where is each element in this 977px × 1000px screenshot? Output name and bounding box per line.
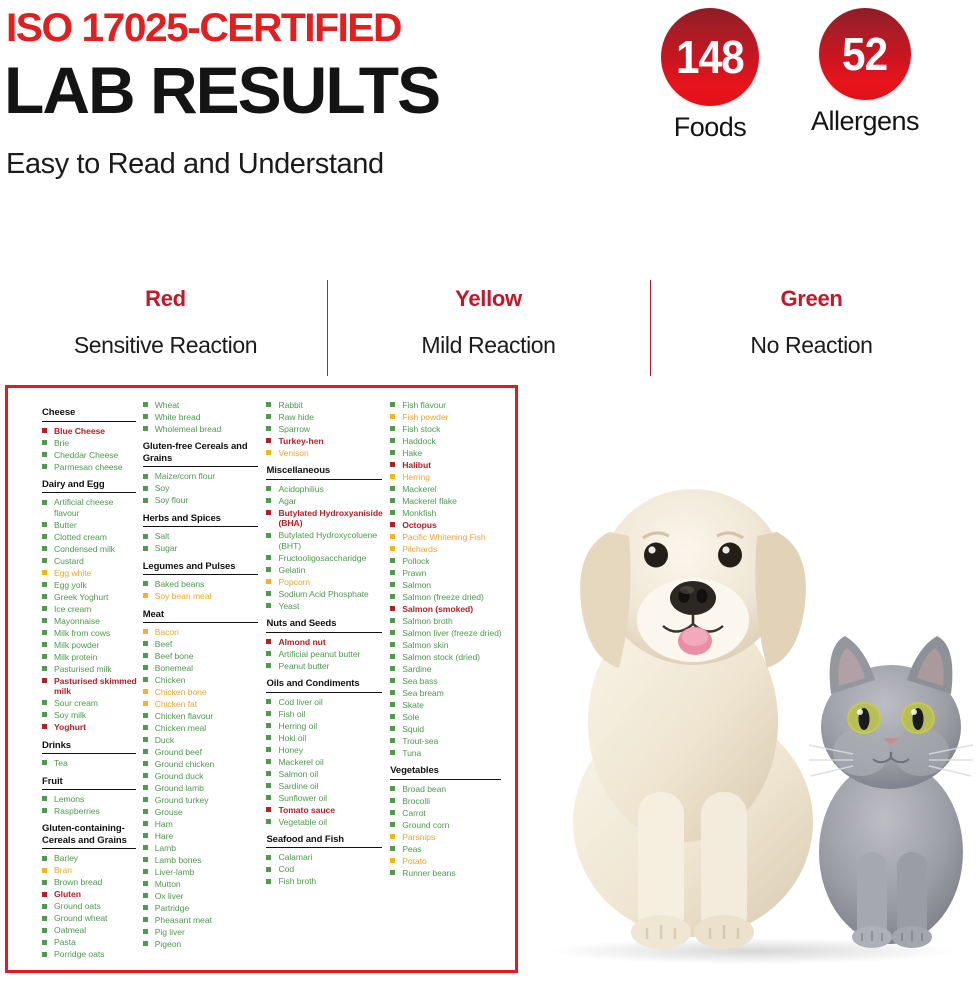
food-item-list: Maize/corn flourSoySoy flour [143,471,265,505]
food-item-label: Peas [402,844,421,854]
food-item-label: Mayonnaise [54,616,100,626]
status-square-green-icon [390,750,395,755]
legend-desc-green: No Reaction [650,332,973,359]
status-square-green-icon [143,869,148,874]
food-item-label: Ground oats [54,901,101,911]
status-square-red-icon [390,462,395,467]
food-item: Pacific Whitening Fish [390,532,507,542]
food-item: Pollock [390,556,507,566]
food-item-label: Soy [155,483,170,493]
food-item: Prawn [390,568,507,578]
status-square-green-icon [42,904,47,909]
food-item-list: Tea [42,758,141,768]
category-rule [143,526,259,527]
status-square-red-icon [266,510,271,515]
category-heading: Miscellaneous [266,465,388,477]
food-item: Fish flavour [390,400,507,410]
status-square-green-icon [42,880,47,885]
food-item-label: Vegetable oil [278,817,327,827]
food-item-label: Pheasant meat [155,915,212,925]
status-square-green-icon [266,783,271,788]
status-square-green-icon [390,630,395,635]
iso-certification-line: ISO 17025-CERTIFIED [6,6,401,51]
food-item-label: Mutton [155,879,181,889]
food-item: Pilchards [390,544,507,554]
food-item-list: BarleyBranBrown breadGlutenGround oatsGr… [42,853,141,959]
badge-foods: 148 Foods [645,8,775,143]
food-item-label: Fish broth [278,876,316,886]
food-item: Partridge [143,903,265,913]
status-square-green-icon [42,546,47,551]
food-item: Brie [42,438,141,448]
food-item-label: Skate [402,700,424,710]
food-item: Tomato sauce [266,805,388,815]
food-item: Ground corn [390,820,507,830]
food-item-label: Broad bean [402,784,446,794]
food-item-label: Salmon stock (dried) [402,652,480,662]
legend-desc-red: Sensitive Reaction [4,332,327,359]
food-item: Peas [390,844,507,854]
status-square-green-icon [390,810,395,815]
food-item: Duck [143,735,265,745]
food-item: Liver-lamb [143,867,265,877]
food-item-label: Pasturised milk [54,664,112,674]
food-item: Agar [266,496,388,506]
legend-labels: Red Sensitive Reaction Yellow Mild React… [4,266,973,359]
legend-item-green: Green No Reaction [650,266,973,359]
food-item: Pasturised milk [42,664,141,674]
food-item-label: Fish flavour [402,400,446,410]
status-square-green-icon [42,642,47,647]
status-square-green-icon [42,534,47,539]
food-item: Sea bass [390,676,507,686]
status-square-green-icon [390,570,395,575]
food-item-label: Milk from cows [54,628,110,638]
food-item: Sunflower oil [266,793,388,803]
food-item: Brown bread [42,877,141,887]
food-item-label: Runner beans [402,868,455,878]
food-item: Peanut butter [266,661,388,671]
food-item: Almond nut [266,637,388,647]
status-square-green-icon [266,711,271,716]
status-square-green-icon [390,402,395,407]
legend-divider-1 [327,280,328,376]
status-square-green-icon [390,642,395,647]
food-item-label: Pig liver [155,927,185,937]
status-square-green-icon [42,618,47,623]
food-item-list: Fish flavourFish powderFish stockHaddock… [390,400,507,758]
food-item-label: Maize/corn flour [155,471,215,481]
food-item-label: Salmon (smoked) [402,604,473,614]
food-item-label: Ground chicken [155,759,215,769]
food-item: Salmon [390,580,507,590]
status-square-green-icon [390,498,395,503]
food-item-label: Tea [54,758,68,768]
badge-number-foods: 148 [676,34,744,80]
status-square-red-icon [266,807,271,812]
food-item-label: Gluten [54,889,81,899]
food-item-label: Bonemeal [155,663,193,673]
status-square-green-icon [143,785,148,790]
badge-circle-allergens: 52 [819,8,911,100]
food-item-label: Herring oil [278,721,317,731]
food-item-label: Porridge oats [54,949,104,959]
category-heading: Seafood and Fish [266,834,388,846]
status-square-red-icon [266,438,271,443]
food-item: Carrot [390,808,507,818]
food-item-label: Artificial cheese flavour [54,497,113,517]
status-square-yellow-icon [390,414,395,419]
status-square-green-icon [390,870,395,875]
food-item-label: Salt [155,531,170,541]
status-square-green-icon [42,940,47,945]
status-square-green-icon [143,486,148,491]
food-item: Salmon (freeze dried) [390,592,507,602]
status-square-yellow-icon [390,534,395,539]
status-square-green-icon [143,929,148,934]
food-item-list: RabbitRaw hideSparrowTurkey-henVenison [266,400,388,458]
status-square-green-icon [266,426,271,431]
food-item-label: Pigeon [155,939,181,949]
food-item: Ice cream [42,604,141,614]
badge-label-foods: Foods [645,112,775,143]
status-square-green-icon [143,857,148,862]
status-square-red-icon [266,639,271,644]
food-item: Greek Yoghurt [42,592,141,602]
food-item-label: Blue Cheese [54,426,105,436]
status-square-green-icon [390,666,395,671]
food-item-label: Oatmeal [54,925,86,935]
food-item: Ground oats [42,901,141,911]
food-item-label: Ox liver [155,891,184,901]
food-item-label: Soy milk [54,710,86,720]
status-square-green-icon [42,796,47,801]
food-item-label: Sparrow [278,424,310,434]
food-columns: CheeseBlue CheeseBrieCheddar CheeseParme… [14,400,509,966]
status-square-green-icon [143,905,148,910]
food-item: Fish broth [266,876,388,886]
food-item-label: Sodium Acid Phosphate [278,589,368,599]
food-item-label: Butter [54,520,77,530]
food-item: Beef bone [143,651,265,661]
food-item: Artificial peanut butter [266,649,388,659]
status-square-green-icon [42,928,47,933]
status-square-green-icon [143,677,148,682]
category-rule [42,848,136,849]
food-item: Brocolli [390,796,507,806]
food-item-label: Wheat [155,400,180,410]
status-square-green-icon [143,474,148,479]
food-item: Wholemeal bread [143,424,265,434]
status-square-yellow-icon [390,858,395,863]
food-item-label: Pasta [54,937,76,947]
status-square-green-icon [390,702,395,707]
food-column-3: RabbitRaw hideSparrowTurkey-henVenisonMi… [266,400,390,966]
food-item-label: Herring [402,472,430,482]
status-square-green-icon [42,464,47,469]
food-item-label: Pacific Whitening Fish [402,532,485,542]
legend-name-red: Red [4,286,327,312]
food-item: Mackerel [390,484,507,494]
food-item-label: Beef bone [155,651,194,661]
status-square-green-icon [266,603,271,608]
food-item: Egg white [42,568,141,578]
status-square-yellow-icon [390,546,395,551]
food-item-label: Brown bread [54,877,102,887]
food-item-label: Sour cream [54,698,98,708]
food-item: Chicken meal [143,723,265,733]
food-item-label: Tomato sauce [278,805,335,815]
food-item-label: Custard [54,556,84,566]
status-square-green-icon [266,591,271,596]
food-item-label: Calamari [278,852,312,862]
status-square-green-icon [143,498,148,503]
status-square-green-icon [42,666,47,671]
status-square-green-icon [143,845,148,850]
status-square-green-icon [143,725,148,730]
category-heading: Vegetables [390,765,507,777]
status-square-green-icon [390,690,395,695]
category-heading: Meat [143,609,265,621]
food-item-label: Soy flour [155,495,188,505]
food-item: Condensed milk [42,544,141,554]
food-item: Barley [42,853,141,863]
category-rule [390,779,501,780]
food-item-label: Raw hide [278,412,313,422]
food-item-label: Yeast [278,601,299,611]
food-item: Yoghurt [42,722,141,732]
food-item: Honey [266,745,388,755]
status-square-green-icon [266,567,271,572]
food-item-list: SaltSugar [143,531,265,553]
food-item: Raw hide [266,412,388,422]
status-square-green-icon [143,773,148,778]
food-item: Squid [390,724,507,734]
food-item: Clotted cream [42,532,141,542]
status-square-green-icon [266,795,271,800]
food-item: Salmon liver (freeze dried) [390,628,507,638]
food-column-1: CheeseBlue CheeseBrieCheddar CheeseParme… [14,400,143,966]
status-square-green-icon [143,581,148,586]
food-item: Yeast [266,601,388,611]
status-square-green-icon [42,452,47,457]
food-item: Ground chicken [143,759,265,769]
food-item-label: Beef [155,639,172,649]
food-item-label: Acidophilius [278,484,323,494]
category-rule [42,753,136,754]
food-item: Pasturised skimmed milk [42,676,141,697]
food-item: Gelatin [266,565,388,575]
food-item-list: WheatWhite breadWholemeal bread [143,400,265,434]
food-item-label: Prawn [402,568,426,578]
food-item-label: Rabbit [278,400,303,410]
food-item: Pig liver [143,927,265,937]
food-item-label: Chicken bone [155,687,207,697]
status-square-green-icon [143,917,148,922]
food-item-label: Sardine [402,664,431,674]
badge-allergens: 52 Allergens [800,8,930,137]
food-item: Herring oil [266,721,388,731]
food-item-label: Lemons [54,794,84,804]
food-item: Sea bream [390,688,507,698]
status-square-green-icon [390,594,395,599]
status-square-green-icon [42,440,47,445]
food-item: Rabbit [266,400,388,410]
status-square-green-icon [266,414,271,419]
food-item-label: Trout-sea [402,736,438,746]
status-square-green-icon [390,654,395,659]
food-item: Bonemeal [143,663,265,673]
category-heading: Dairy and Egg [42,479,141,491]
legend-name-yellow: Yellow [327,286,650,312]
food-item-label: Ground corn [402,820,449,830]
legend-desc-yellow: Mild Reaction [327,332,650,359]
food-item-label: Greek Yoghurt [54,592,108,602]
food-item: Sole [390,712,507,722]
food-item: Chicken flavour [143,711,265,721]
status-square-green-icon [42,952,47,957]
category-rule [266,847,382,848]
status-square-red-icon [42,724,47,729]
pet-photo [523,382,977,1000]
food-item-label: Squid [402,724,424,734]
food-item-label: Chicken fat [155,699,197,709]
food-item: Skate [390,700,507,710]
status-square-green-icon [390,450,395,455]
food-item: Butter [42,520,141,530]
food-item: Chicken [143,675,265,685]
legend-name-green: Green [650,286,973,312]
food-item: Tea [42,758,141,768]
food-item-label: Egg white [54,568,91,578]
food-item-label: Venison [278,448,308,458]
food-item-list: LemonsRaspberries [42,794,141,816]
category-heading: Drinks [42,740,141,752]
page-title: LAB RESULTS [4,57,439,123]
food-item: Fish oil [266,709,388,719]
food-item: Hare [143,831,265,841]
food-item: Octopus [390,520,507,530]
food-item: Salmon stock (dried) [390,652,507,662]
status-square-green-icon [143,402,148,407]
food-item-label: Fish stock [402,424,440,434]
status-square-green-icon [266,663,271,668]
food-item-label: Hake [402,448,422,458]
status-square-green-icon [42,654,47,659]
status-square-green-icon [390,618,395,623]
food-item-label: Parmesan cheese [54,462,123,472]
food-item-list: Artificial cheese flavourButterClotted c… [42,497,141,732]
food-item: Salt [143,531,265,541]
food-item: Mackerel flake [390,496,507,506]
food-item: Lemons [42,794,141,804]
food-item-label: Yoghurt [54,722,86,732]
cat-illustration [801,602,977,952]
food-item-label: Mackerel flake [402,496,457,506]
food-item: Salmon broth [390,616,507,626]
status-square-yellow-icon [390,474,395,479]
food-item: Soy [143,483,265,493]
status-square-green-icon [266,747,271,752]
status-square-green-icon [143,749,148,754]
food-item: Sodium Acid Phosphate [266,589,388,599]
status-square-green-icon [266,819,271,824]
food-item: Fish stock [390,424,507,434]
food-item-label: Ground lamb [155,783,204,793]
food-item-label: Potato [402,856,427,866]
food-item: Sour cream [42,698,141,708]
status-square-green-icon [266,879,271,884]
food-item: Maize/corn flour [143,471,265,481]
food-item: Butylated Hydroxycoluene (BHT) [266,530,388,551]
food-item: Turkey-hen [266,436,388,446]
category-rule [42,421,136,422]
food-item-label: Baked beans [155,579,205,589]
food-item-label: Sunflower oil [278,793,327,803]
food-item-label: Turkey-hen [278,436,323,446]
food-item-list: Broad beanBrocolliCarrotGround cornParsn… [390,784,507,878]
food-item: Lamb [143,843,265,853]
food-item: Broad bean [390,784,507,794]
food-item: Popcorn [266,577,388,587]
food-item-label: Cheddar Cheese [54,450,118,460]
food-item-label: Ice cream [54,604,91,614]
food-item: Artificial cheese flavour [42,497,141,518]
status-square-yellow-icon [266,450,271,455]
status-square-green-icon [390,438,395,443]
food-item-label: Sugar [155,543,178,553]
category-heading: Legumes and Pulses [143,561,265,573]
status-square-green-icon [266,555,271,560]
status-square-green-icon [143,833,148,838]
food-item-label: Chicken [155,675,186,685]
status-square-green-icon [42,712,47,717]
food-item: Salmon oil [266,769,388,779]
food-item: Custard [42,556,141,566]
food-item: Milk powder [42,640,141,650]
food-item-label: Chicken flavour [155,711,213,721]
food-item-list: Blue CheeseBrieCheddar CheeseParmesan ch… [42,426,141,472]
food-item: Lamb bones [143,855,265,865]
food-item: Sardine [390,664,507,674]
food-item-label: Ground duck [155,771,204,781]
status-square-green-icon [143,665,148,670]
food-item-label: Tuna [402,748,421,758]
food-item-label: Hoki oil [278,733,306,743]
food-item-label: Ham [155,819,173,829]
food-item-label: Ground beef [155,747,202,757]
food-item-label: Octopus [402,520,437,530]
status-square-green-icon [266,771,271,776]
food-item: Butylated Hydroxyaniside (BHA) [266,508,388,529]
food-item-label: Wholemeal bread [155,424,222,434]
food-item: Ground turkey [143,795,265,805]
food-item-label: Salmon oil [278,769,318,779]
food-item: Vegetable oil [266,817,388,827]
legend-color-bar [4,210,973,266]
food-item-label: Cod liver oil [278,697,322,707]
food-item-label: Sea bass [402,676,437,686]
food-item: Tuna [390,748,507,758]
food-item-label: Grouse [155,807,183,817]
food-item-label: Salmon skin [402,640,448,650]
food-item: Blue Cheese [42,426,141,436]
status-square-green-icon [390,582,395,587]
category-heading: Gluten-free Cereals and Grains [143,441,265,464]
food-item: Pasta [42,937,141,947]
food-item: Calamari [266,852,388,862]
food-item-label: Sea bream [402,688,444,698]
